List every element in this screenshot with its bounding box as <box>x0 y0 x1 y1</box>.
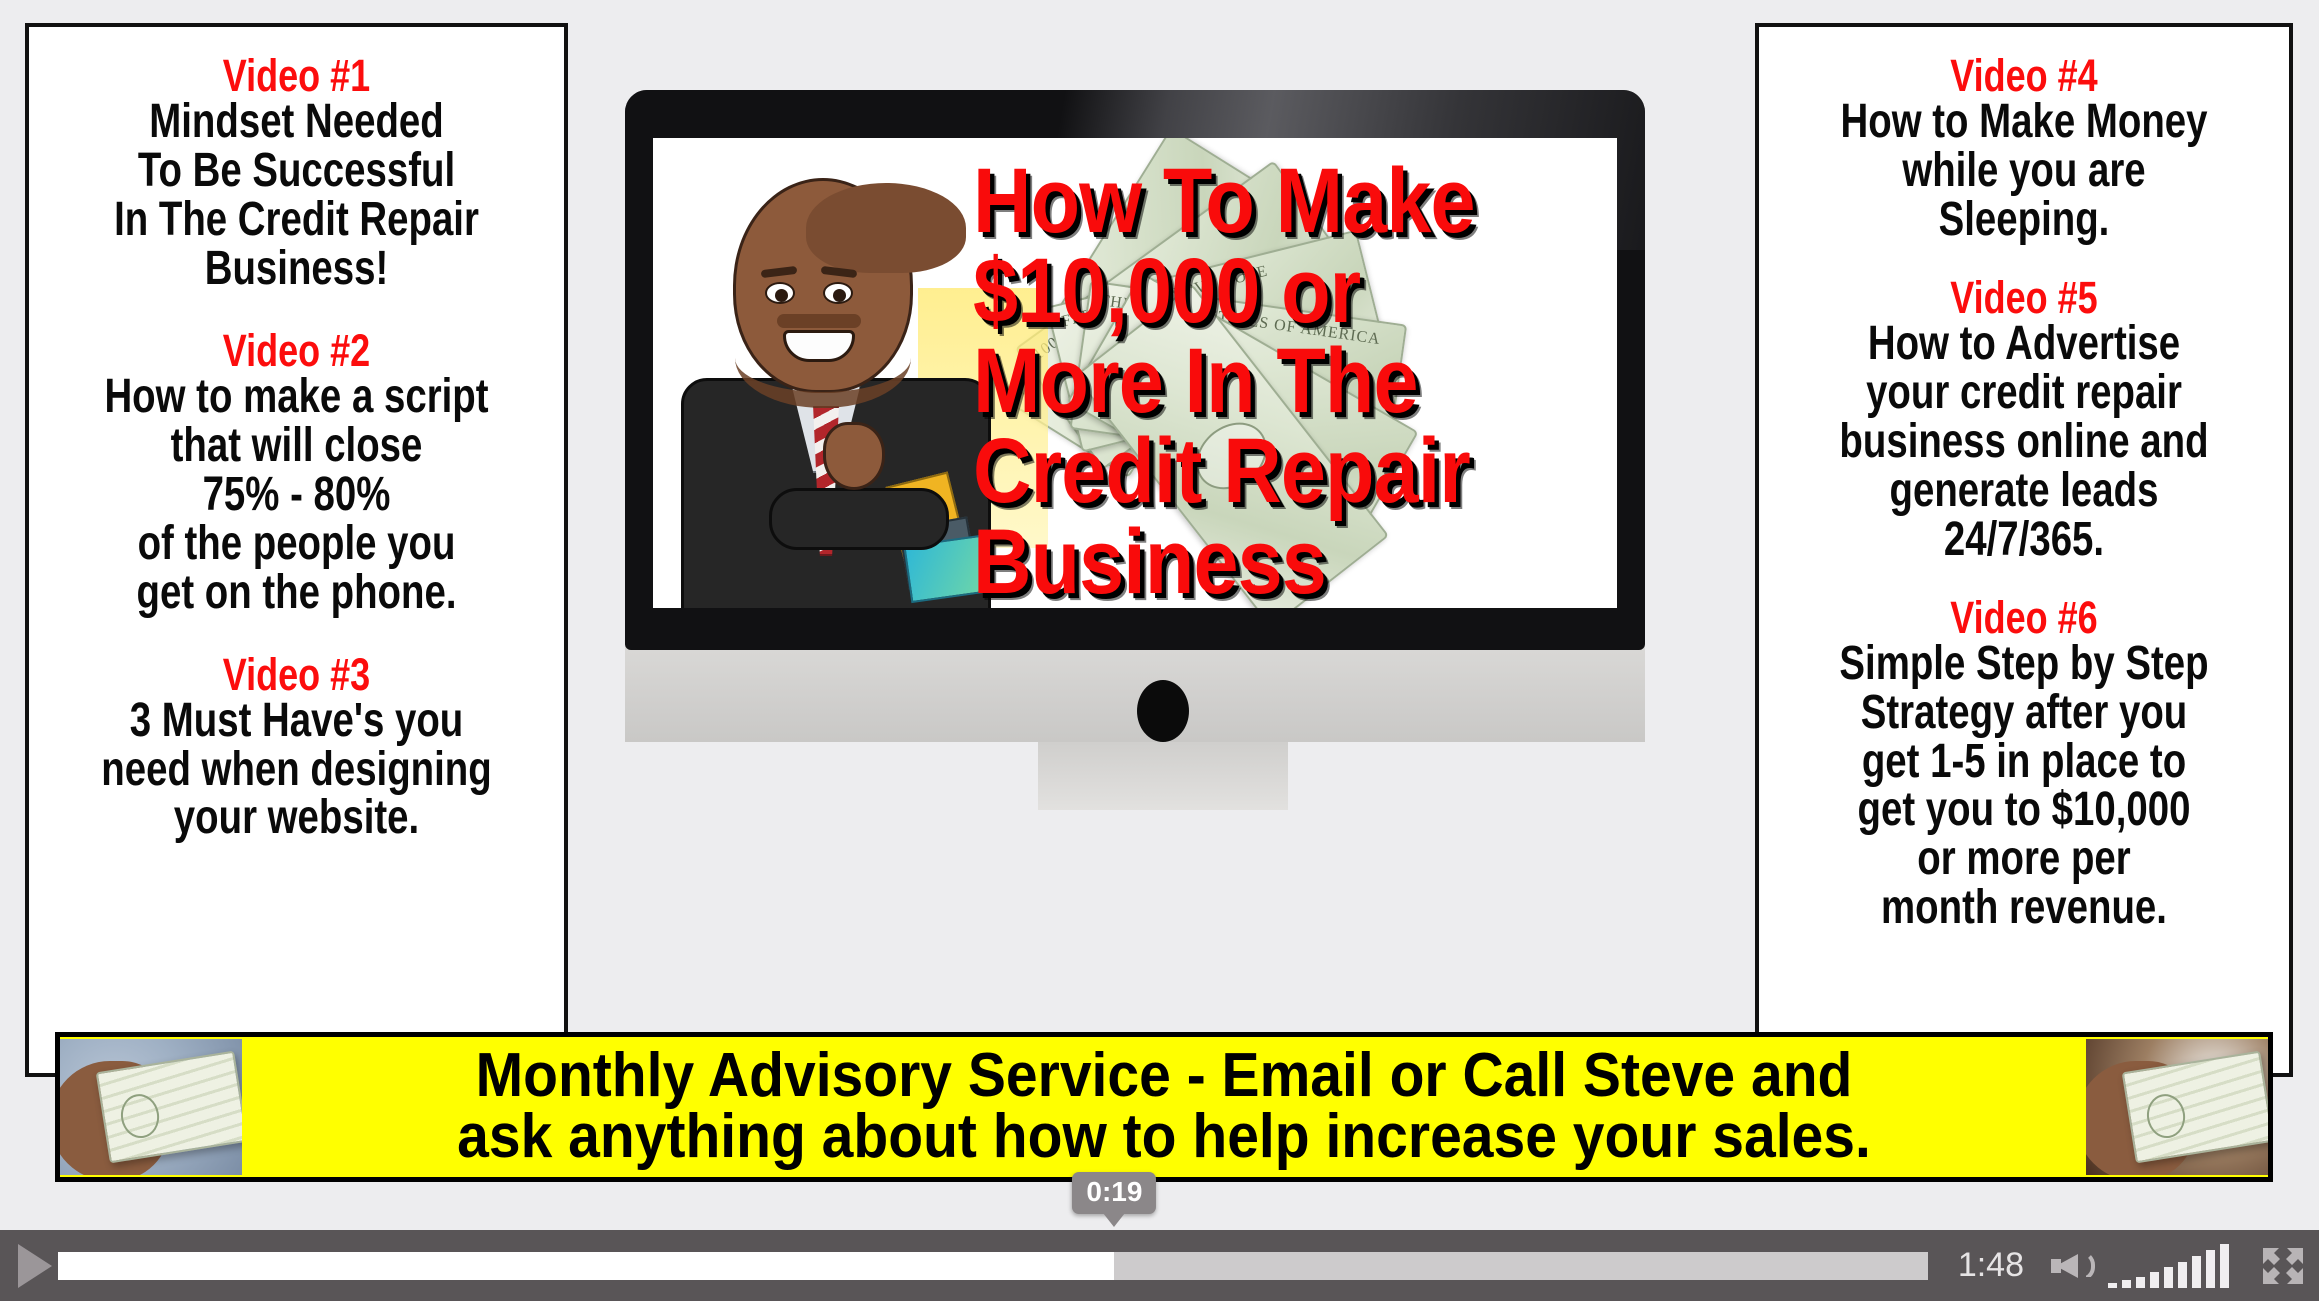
video-description: Simple Step by Step Strategy after you g… <box>1812 640 2236 934</box>
video-title: Video #5 <box>1812 275 2236 320</box>
speaker-volume-icon[interactable] <box>2050 1230 2108 1301</box>
video-title: Video #6 <box>1812 595 2236 640</box>
page-title: How To Make $10,000 or More In The Credi… <box>973 156 1536 607</box>
list-item: Video #3 3 Must Have's you need when des… <box>29 652 564 844</box>
volume-bar <box>2220 1244 2229 1288</box>
video-description: How to Advertise your credit repair busi… <box>1812 320 2236 565</box>
monitor-screen: 100 100 FEDERAL RESERVE NOTE 95594731 A … <box>653 138 1617 608</box>
video-title: Video #4 <box>1812 53 2236 98</box>
cash-photo-left <box>60 1039 242 1175</box>
play-triangle-icon <box>18 1244 52 1288</box>
seek-bar-wrapper[interactable]: 0:19 <box>58 1230 1928 1301</box>
volume-bar <box>2122 1280 2131 1288</box>
businessman-avatar <box>673 178 1003 608</box>
avatar-hand <box>823 422 885 490</box>
speaker-wave <box>2081 1251 2095 1281</box>
monitor-illustration: 100 100 FEDERAL RESERVE NOTE 95594731 A … <box>575 90 1750 1090</box>
video-title: Video #1 <box>83 53 511 98</box>
advisory-banner: Monthly Advisory Service - Email or Call… <box>55 1032 2273 1182</box>
monitor-base-hole <box>1137 680 1189 742</box>
volume-bar <box>2164 1267 2173 1288</box>
seek-bar[interactable] <box>58 1252 1928 1280</box>
volume-slider[interactable] <box>2108 1244 2255 1288</box>
volume-bar <box>2108 1283 2117 1288</box>
monitor-bezel: 100 100 FEDERAL RESERVE NOTE 95594731 A … <box>625 90 1645 650</box>
list-item: Video #6 Simple Step by Step Strategy af… <box>1759 595 2289 934</box>
video-title: Video #3 <box>83 652 511 697</box>
volume-bar <box>2192 1256 2201 1288</box>
duration-label: 1:48 <box>1928 1246 2050 1285</box>
avatar-eye <box>765 282 795 304</box>
video-description: 3 Must Have's you need when designing yo… <box>83 697 511 844</box>
video-player-stage: Video #1 Mindset Needed To Be Successful… <box>0 0 2319 1301</box>
video-player-controls: 0:19 1:48 <box>0 1230 2319 1301</box>
play-button[interactable] <box>0 1230 58 1301</box>
avatar-moustache <box>777 314 861 328</box>
volume-bar <box>2178 1262 2187 1288</box>
speaker-cone <box>2056 1254 2078 1278</box>
player-gap <box>0 1188 2319 1230</box>
volume-bar <box>2150 1272 2159 1288</box>
monitor-stand <box>1038 740 1288 810</box>
cash-photo-right <box>2086 1039 2268 1175</box>
seek-bar-progress <box>58 1252 1114 1280</box>
video-title: Video #2 <box>83 328 511 373</box>
list-item: Video #4 How to Make Money while you are… <box>1759 53 2289 245</box>
left-video-list-panel: Video #1 Mindset Needed To Be Successful… <box>25 23 568 1077</box>
video-description: How to Make Money while you are Sleeping… <box>1812 98 2236 245</box>
list-item: Video #1 Mindset Needed To Be Successful… <box>29 53 564 294</box>
avatar-arm <box>769 488 949 550</box>
right-video-list-panel: Video #4 How to Make Money while you are… <box>1755 23 2293 1077</box>
list-item: Video #2 How to make a script that will … <box>29 328 564 618</box>
video-description: How to make a script that will close 75%… <box>83 373 511 618</box>
advisory-banner-text: Monthly Advisory Service - Email or Call… <box>316 1046 2012 1168</box>
volume-bar <box>2206 1250 2215 1288</box>
monitor-base <box>625 646 1645 742</box>
fullscreen-expand-icon[interactable] <box>2255 1230 2319 1301</box>
fullscreen-arrows <box>2261 1246 2305 1286</box>
video-description: Mindset Needed To Be Successful In The C… <box>83 98 511 294</box>
avatar-eye <box>823 282 853 304</box>
avatar-hair <box>806 183 966 273</box>
list-item: Video #5 How to Advertise your credit re… <box>1759 275 2289 565</box>
volume-bar <box>2136 1277 2145 1288</box>
time-tooltip: 0:19 <box>1072 1172 1156 1214</box>
